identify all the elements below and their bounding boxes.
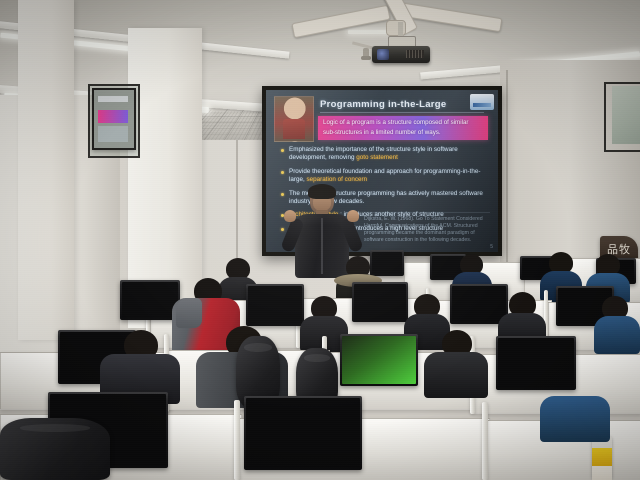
bullet-highlight: separation of concern xyxy=(307,176,368,183)
secondary-screen-title-bar xyxy=(98,96,128,102)
slide-banner-line-2: sub-structures in a limited number of wa… xyxy=(323,128,483,138)
lecture-hall-photo: 品牧 Programming in-the-Large Logic of a p… xyxy=(0,0,640,480)
bottle-label xyxy=(592,448,612,466)
student xyxy=(540,396,610,442)
crt-monitor xyxy=(244,396,362,470)
desk-divider-panel xyxy=(234,400,240,480)
student-jacket xyxy=(540,396,610,442)
student xyxy=(424,330,488,394)
student-jacket xyxy=(594,316,640,354)
jacket-shoulder-grey xyxy=(176,298,202,328)
crt-monitor xyxy=(352,282,408,322)
slide-bullet: Emphasized the importance of the structu… xyxy=(280,146,490,163)
projector-lens xyxy=(377,49,389,60)
lecturer-jacket-zipper xyxy=(321,218,323,274)
lecturer-hair xyxy=(308,184,336,199)
slide-title: Programming in-the-Large xyxy=(320,99,490,110)
structural-column xyxy=(18,0,74,340)
portrait-photo-dijkstra-icon xyxy=(274,96,314,142)
slide-page-number: 5 xyxy=(490,244,493,250)
slide-banner-line-1: Logic of a program is a structure compos… xyxy=(323,118,483,128)
projector-vent xyxy=(406,50,424,58)
monitor-with-green-screen xyxy=(340,334,418,386)
bottle-lower-label xyxy=(592,466,612,480)
crt-monitor xyxy=(120,280,180,320)
slide-banner: Logic of a program is a structure compos… xyxy=(318,116,488,140)
backpack xyxy=(0,418,110,480)
secondary-screen-banner xyxy=(98,110,128,123)
student xyxy=(100,330,180,400)
crt-monitor xyxy=(246,284,304,326)
bullet-highlight: goto statement xyxy=(356,154,398,161)
lecturer-left-hand xyxy=(284,210,296,222)
window-frame xyxy=(604,82,640,152)
desk-divider-panel xyxy=(482,402,488,480)
crt-monitor xyxy=(496,336,576,390)
student-jacket xyxy=(424,352,488,398)
slide-bullet: Provide theoretical foundation and appro… xyxy=(280,168,490,185)
lecturer-right-hand xyxy=(347,210,359,222)
secondary-screen-body xyxy=(98,126,128,142)
ceiling-mounted-projector xyxy=(370,22,434,68)
drink-bottle xyxy=(592,436,612,480)
student xyxy=(594,296,640,352)
slide-footnote: Dijkstra, E. W. (1968). Go To Statement … xyxy=(364,212,490,244)
secondary-projection-screen xyxy=(92,88,136,150)
